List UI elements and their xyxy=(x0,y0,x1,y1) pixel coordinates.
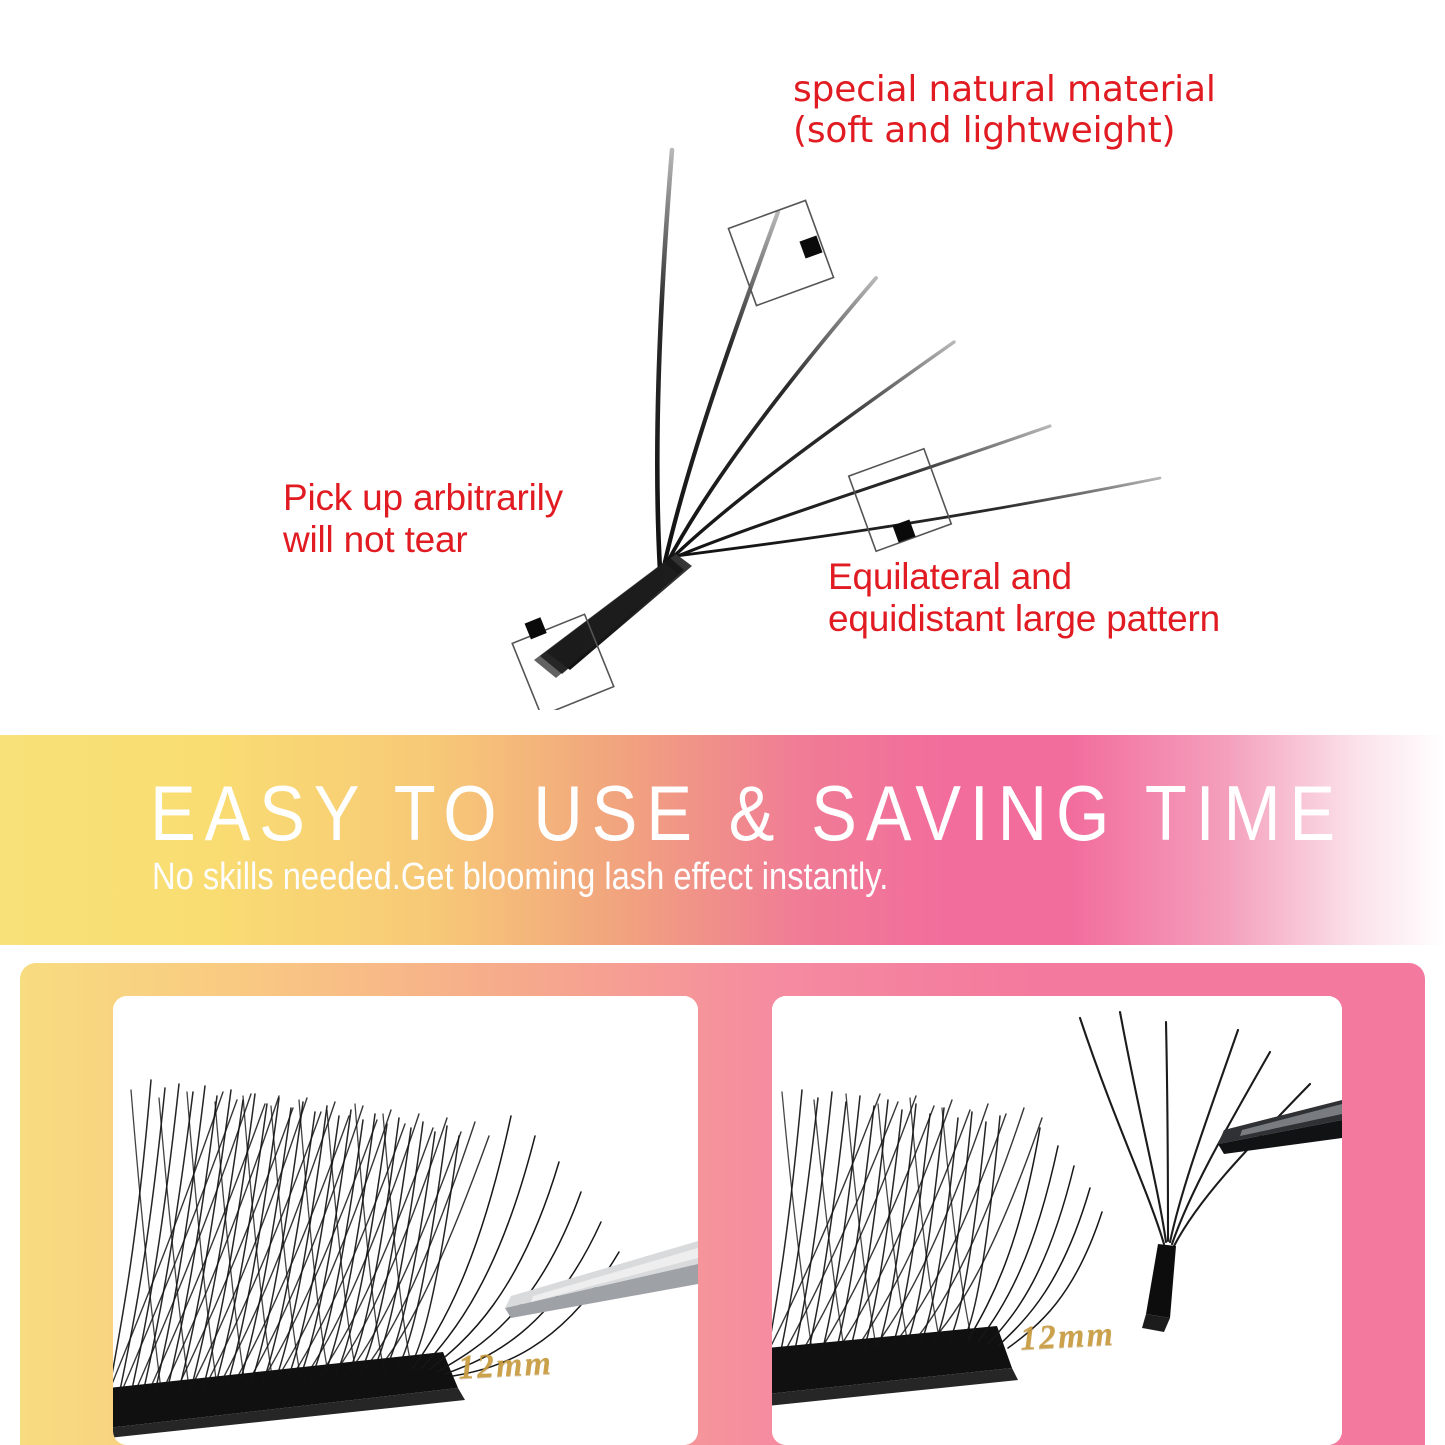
banner-headline: EASY TO USE & SAVING TIME xyxy=(150,774,1206,852)
mm-size-label-right: 12mm xyxy=(1019,1316,1116,1359)
mm-size-label-left: 12mm xyxy=(457,1345,554,1388)
lash-fan-lifted-photo xyxy=(772,996,1342,1445)
callout-pick-up-arbitrarily: Pick up arbitrarily will not tear xyxy=(283,477,563,561)
callout-equilateral-equidistant: Equilateral and equidistant large patter… xyxy=(828,556,1220,640)
lash-strand-6 xyxy=(676,478,1160,556)
photo-card-lash-tray: 12mm xyxy=(113,996,698,1445)
lash-tray-photo xyxy=(113,996,698,1445)
banner-subheadline: No skills needed.Get blooming lash effec… xyxy=(152,857,1184,899)
diagram-section: special natural material (soft and light… xyxy=(0,0,1445,735)
lash-strand-5 xyxy=(673,426,1050,558)
callout-special-natural-material: special natural material (soft and light… xyxy=(793,70,1216,151)
lash-fan-base xyxy=(534,554,692,678)
lash-strands xyxy=(657,150,1160,570)
photo-panel: 12mm xyxy=(20,963,1425,1445)
marker-material-square xyxy=(728,200,833,305)
lash-strand-1 xyxy=(657,150,672,570)
photo-card-lash-fan-lifted: 12mm xyxy=(772,996,1342,1445)
